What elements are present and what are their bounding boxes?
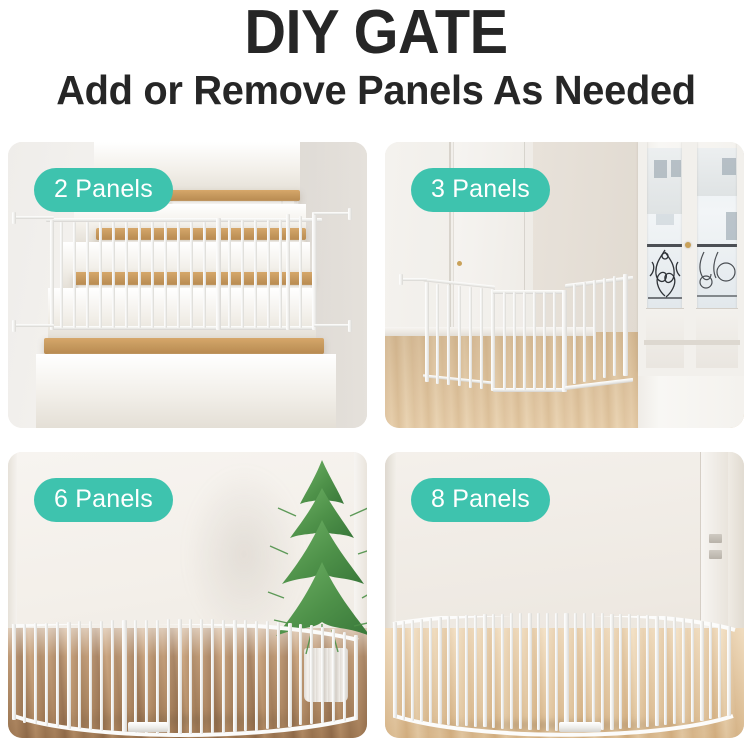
panel-card-3-panels[interactable]: 3 Panels [385, 142, 744, 428]
page-subtitle: Add or Remove Panels As Needed [11, 66, 740, 114]
panel-configuration-grid: 2 Panels [8, 142, 744, 738]
badge-8-panels: 8 Panels [411, 478, 550, 522]
badge-2-panels: 2 Panels [34, 168, 173, 212]
badge-3-panels: 3 Panels [411, 168, 550, 212]
safety-gate-2-panels [46, 210, 322, 340]
panel-card-2-panels[interactable]: 2 Panels [8, 142, 367, 428]
panel-card-8-panels[interactable]: 8 Panels [385, 452, 744, 738]
safety-gate-3-panels [423, 282, 633, 410]
wrought-iron-scroll-right-icon [696, 246, 738, 306]
safety-gate-8-panels [391, 616, 739, 738]
french-door [638, 142, 744, 428]
infographic-root: DIY GATE Add or Remove Panels As Needed [0, 0, 752, 747]
wrought-iron-scroll-icon [646, 246, 684, 306]
panel-card-6-panels[interactable]: 6 Panels [8, 452, 367, 738]
page-title: DIY GATE [26, 2, 725, 64]
header: DIY GATE Add or Remove Panels As Needed [0, 0, 752, 128]
safety-gate-6-panels [10, 624, 362, 738]
badge-6-panels: 6 Panels [34, 478, 173, 522]
